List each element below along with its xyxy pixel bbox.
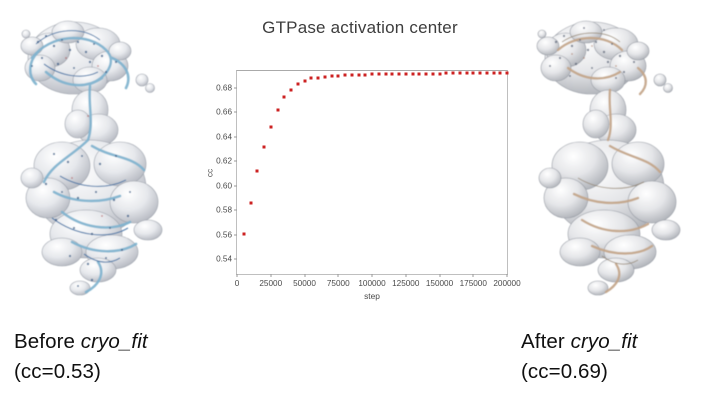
x-axis-tick-mark: [507, 274, 508, 277]
y-axis-tick-mark: [234, 185, 237, 186]
data-point: [283, 96, 286, 99]
data-point: [431, 72, 434, 75]
x-axis-tick-mark: [372, 274, 373, 277]
data-point: [364, 73, 367, 76]
caption-after-program-name: cryo_fit: [571, 330, 638, 353]
y-axis-tick-mark: [234, 161, 237, 162]
data-point: [492, 72, 495, 75]
data-point: [310, 77, 313, 80]
data-point: [256, 169, 259, 172]
plot-area: cc step 0.540.560.580.600.620.640.660.68…: [204, 58, 516, 300]
data-point: [418, 72, 421, 75]
data-point: [472, 72, 475, 75]
data-point: [290, 89, 293, 92]
caption-before-program-name: cryo_fit: [81, 330, 148, 353]
x-axis-tick-mark: [304, 274, 305, 277]
y-axis-tick-mark: [234, 87, 237, 88]
x-axis-tick-mark: [270, 274, 271, 277]
data-point: [249, 201, 252, 204]
y-axis-tick-mark: [234, 112, 237, 113]
x-axis-tick-mark: [405, 274, 406, 277]
caption-after-cc: (cc=0.69): [521, 357, 637, 387]
x-axis-tick-mark: [237, 274, 238, 277]
structure-before-cryofit: [2, 6, 202, 316]
data-point: [303, 79, 306, 82]
data-point: [458, 72, 461, 75]
caption-after-prefix: After: [521, 330, 571, 353]
plot-frame: cc step 0.540.560.580.600.620.640.660.68…: [236, 70, 508, 275]
figure-canvas: GTPase activation center cc step 0.540.5…: [0, 0, 720, 409]
y-axis-tick-mark: [234, 234, 237, 235]
cc-vs-step-chart: GTPase activation center cc step 0.540.5…: [204, 12, 516, 300]
chart-title: GTPase activation center: [204, 18, 516, 38]
data-point: [269, 125, 272, 128]
caption-before: Before cryo_fit (cc=0.53): [14, 327, 148, 387]
data-point: [479, 72, 482, 75]
data-point: [317, 76, 320, 79]
data-points-layer: [237, 71, 507, 274]
data-point: [357, 73, 360, 76]
structure-before-svg: [2, 6, 202, 316]
data-point: [350, 74, 353, 77]
caption-before-prefix: Before: [14, 330, 81, 353]
data-point: [499, 72, 502, 75]
caption-before-cc: (cc=0.53): [14, 357, 148, 387]
data-point: [276, 109, 279, 112]
data-point: [465, 72, 468, 75]
data-point: [506, 72, 509, 75]
y-axis-tick-mark: [234, 136, 237, 137]
caption-before-line1: Before cryo_fit: [14, 327, 148, 357]
data-point: [404, 72, 407, 75]
data-point: [391, 73, 394, 76]
data-point: [263, 145, 266, 148]
y-axis-tick-mark: [234, 210, 237, 211]
x-axis-tick-mark: [473, 274, 474, 277]
data-point: [323, 75, 326, 78]
data-point: [377, 73, 380, 76]
data-point: [398, 72, 401, 75]
data-point: [438, 72, 441, 75]
y-axis-label: cc: [206, 168, 215, 176]
data-point: [445, 72, 448, 75]
structure-after-cryofit: [518, 6, 718, 316]
caption-after-line1: After cryo_fit: [521, 327, 637, 357]
data-point: [425, 72, 428, 75]
data-point: [330, 75, 333, 78]
caption-after: After cryo_fit (cc=0.69): [521, 327, 637, 387]
data-point: [411, 72, 414, 75]
data-point: [371, 73, 374, 76]
data-point: [337, 74, 340, 77]
y-axis-tick-mark: [234, 259, 237, 260]
data-point: [242, 233, 245, 236]
data-point: [344, 74, 347, 77]
data-point: [384, 73, 387, 76]
data-point: [452, 72, 455, 75]
x-axis-tick-mark: [338, 274, 339, 277]
data-point: [485, 72, 488, 75]
x-axis-label: step: [364, 291, 380, 301]
structure-after-svg: [518, 6, 718, 316]
x-axis-tick-mark: [439, 274, 440, 277]
data-point: [296, 82, 299, 85]
